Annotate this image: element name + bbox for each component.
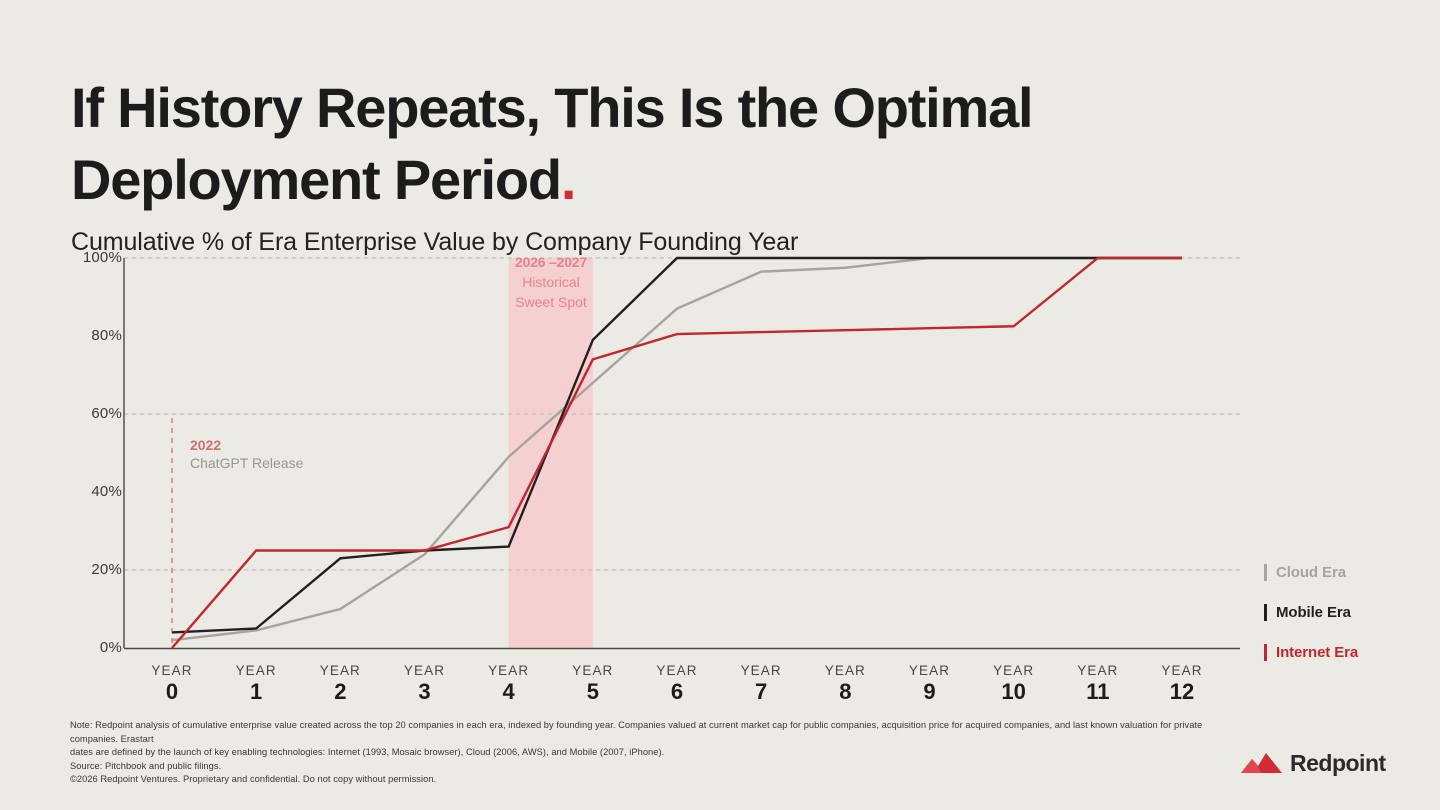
legend-item-internet-era[interactable]: Internet Era — [1264, 632, 1434, 672]
x-tick-number: 8 — [800, 679, 890, 705]
y-tick-label-80: 80% — [62, 327, 122, 344]
x-tick-word: YEAR — [716, 663, 806, 678]
sweet-spot-line1: Historical — [505, 272, 597, 292]
x-tick-number: 2 — [295, 679, 385, 705]
title-accent-dot: . — [561, 148, 575, 211]
footnote-source: Source: Pitchbook and public filings. — [70, 760, 1230, 774]
series-line-cloud-era — [172, 258, 1182, 640]
x-tick-year-3: YEAR3 — [380, 663, 470, 705]
x-tick-year-8: YEAR8 — [800, 663, 890, 705]
sweet-spot-band — [509, 258, 593, 648]
legend-swatch-icon — [1264, 604, 1267, 621]
x-tick-word: YEAR — [885, 663, 975, 678]
series-line-mobile-era — [172, 258, 1182, 632]
x-tick-year-12: YEAR12 — [1137, 663, 1227, 705]
x-tick-number: 11 — [1053, 679, 1143, 705]
x-tick-year-1: YEAR1 — [211, 663, 301, 705]
redpoint-logo: Redpoint — [1241, 748, 1386, 778]
x-tick-number: 3 — [380, 679, 470, 705]
x-tick-number: 7 — [716, 679, 806, 705]
x-tick-word: YEAR — [127, 663, 217, 678]
page-title: If History Repeats, This Is the OptimalD… — [71, 72, 1271, 216]
x-tick-word: YEAR — [211, 663, 301, 678]
x-tick-number: 12 — [1137, 679, 1227, 705]
x-tick-number: 9 — [885, 679, 975, 705]
x-tick-word: YEAR — [380, 663, 470, 678]
x-tick-word: YEAR — [1137, 663, 1227, 678]
x-tick-year-10: YEAR10 — [969, 663, 1059, 705]
series-lines — [172, 258, 1182, 648]
series-line-internet-era — [172, 258, 1182, 648]
x-tick-word: YEAR — [464, 663, 554, 678]
footnotes: Note: Redpoint analysis of cumulative en… — [70, 719, 1230, 787]
x-tick-word: YEAR — [969, 663, 1059, 678]
header: If History Repeats, This Is the OptimalD… — [71, 72, 1271, 258]
y-tick-label-0: 0% — [62, 639, 122, 656]
y-tick-label-40: 40% — [62, 483, 122, 500]
page-title-line2: Deployment Period — [71, 148, 561, 211]
footnote-note-line2: dates are defined by the launch of key e… — [70, 746, 1230, 760]
legend-label: Mobile Era — [1276, 604, 1351, 621]
chatgpt-year: 2022 — [190, 436, 303, 454]
x-tick-year-0: YEAR0 — [127, 663, 217, 705]
footnote-note-line1: Note: Redpoint analysis of cumulative en… — [70, 719, 1230, 746]
legend-item-mobile-era[interactable]: Mobile Era — [1264, 592, 1434, 632]
legend-label: Cloud Era — [1276, 564, 1346, 581]
sweet-spot-annotation: 2026 –2027 Historical Sweet Spot — [505, 252, 597, 312]
x-tick-year-11: YEAR11 — [1053, 663, 1143, 705]
chart-legend: Cloud EraMobile EraInternet Era — [1264, 552, 1434, 672]
x-tick-word: YEAR — [295, 663, 385, 678]
x-tick-number: 10 — [969, 679, 1059, 705]
x-tick-year-6: YEAR6 — [632, 663, 722, 705]
x-tick-year-9: YEAR9 — [885, 663, 975, 705]
legend-label: Internet Era — [1276, 644, 1358, 661]
legend-swatch-icon — [1264, 564, 1267, 581]
legend-item-cloud-era[interactable]: Cloud Era — [1264, 552, 1434, 592]
x-axis-labels: YEAR0YEAR1YEAR2YEAR3YEAR4YEAR5YEAR6YEAR7… — [0, 663, 1440, 713]
x-tick-word: YEAR — [800, 663, 890, 678]
x-tick-number: 0 — [127, 679, 217, 705]
y-tick-label-20: 20% — [62, 561, 122, 578]
x-tick-number: 6 — [632, 679, 722, 705]
chatgpt-annotation: 2022 ChatGPT Release — [190, 436, 303, 472]
x-tick-number: 5 — [548, 679, 638, 705]
x-tick-year-7: YEAR7 — [716, 663, 806, 705]
footnote-copyright: ©2026 Redpoint Ventures. Proprietary and… — [70, 773, 1230, 787]
sweet-spot-line2: Sweet Spot — [505, 292, 597, 312]
x-tick-year-4: YEAR4 — [464, 663, 554, 705]
chatgpt-label: ChatGPT Release — [190, 454, 303, 472]
gridlines — [124, 258, 1240, 570]
x-tick-word: YEAR — [632, 663, 722, 678]
logo-wordmark: Redpoint — [1290, 752, 1386, 775]
x-tick-word: YEAR — [548, 663, 638, 678]
x-tick-year-5: YEAR5 — [548, 663, 638, 705]
y-tick-label-60: 60% — [62, 405, 122, 422]
x-tick-year-2: YEAR2 — [295, 663, 385, 705]
x-tick-number: 1 — [211, 679, 301, 705]
legend-swatch-icon — [1264, 644, 1267, 661]
chart-subtitle: Cumulative % of Era Enterprise Value by … — [71, 226, 1271, 258]
x-tick-number: 4 — [464, 679, 554, 705]
mountain-icon — [1241, 753, 1283, 774]
x-tick-word: YEAR — [1053, 663, 1143, 678]
page-title-line1: If History Repeats, This Is the Optimal — [71, 76, 1032, 139]
